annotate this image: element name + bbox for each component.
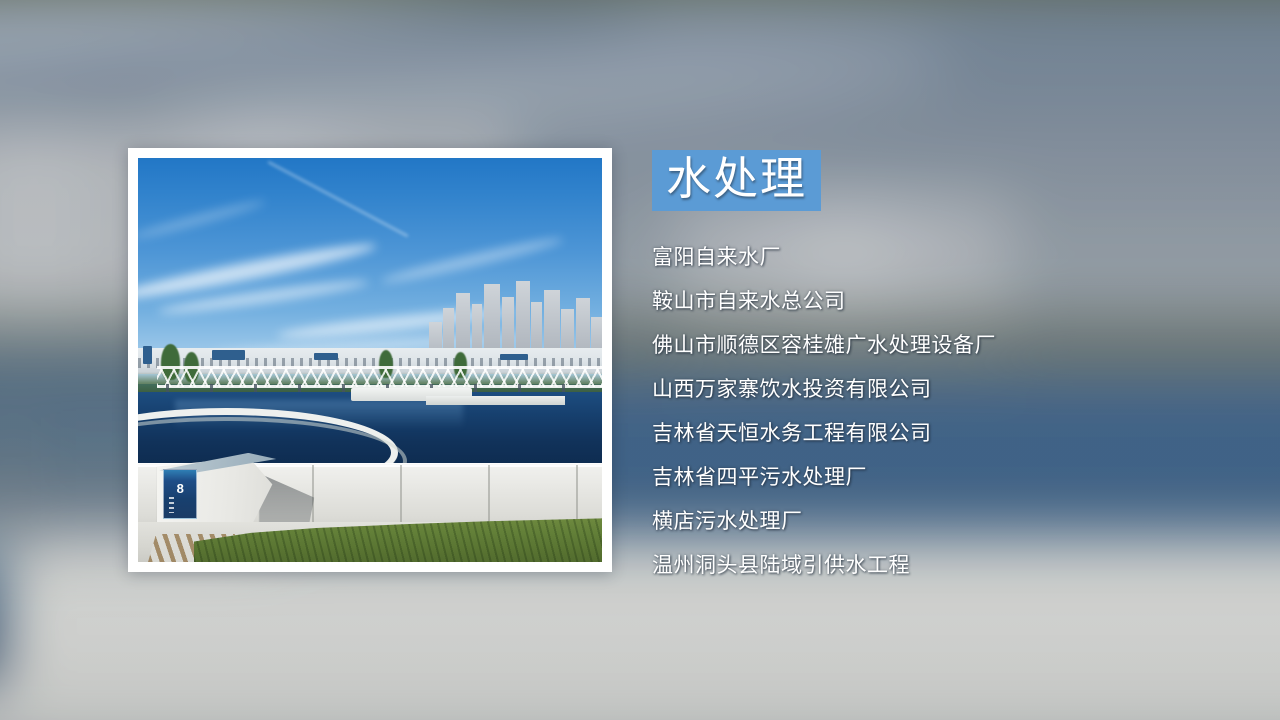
slide-title: 水处理 [666,152,807,205]
list-item: 吉林省四平污水处理厂 [652,455,1252,499]
photo-sign-text-lines [169,497,174,513]
slide-title-box: 水处理 [652,150,821,211]
list-item: 鞍山市自来水总公司 [652,279,1252,323]
list-item: 横店污水处理厂 [652,499,1252,543]
list-item: 温州洞头县陆域引供水工程 [652,543,1252,587]
customer-list: 富阳自来水厂 鞍山市自来水总公司 佛山市顺德区容桂雄广水处理设备厂 山西万家寨饮… [652,235,1252,587]
list-item: 佛山市顺德区容桂雄广水处理设备厂 [652,323,1252,367]
photo-building-accent [500,354,528,360]
water-treatment-plant-photo: 8 [138,158,602,562]
text-content-panel: 水处理 富阳自来水厂 鞍山市自来水总公司 佛山市顺德区容桂雄广水处理设备厂 山西… [652,150,1252,587]
photo-information-sign: 8 [163,469,197,519]
list-item: 富阳自来水厂 [652,235,1252,279]
photo-card: 8 [128,148,612,572]
slide-canvas: 8 水处理 富阳自来水厂 鞍山市自来水总公司 佛山市顺德区容桂雄广水处理设备厂 … [0,0,1280,720]
photo-sign-number: 8 [164,482,196,495]
photo-basin-platform [426,396,565,405]
photo-building-accent [143,346,152,364]
list-item: 吉林省天恒水务工程有限公司 [652,411,1252,455]
photo-building-accent [314,353,337,360]
photo-building-accent [212,350,244,360]
list-item: 山西万家寨饮水投资有限公司 [652,367,1252,411]
